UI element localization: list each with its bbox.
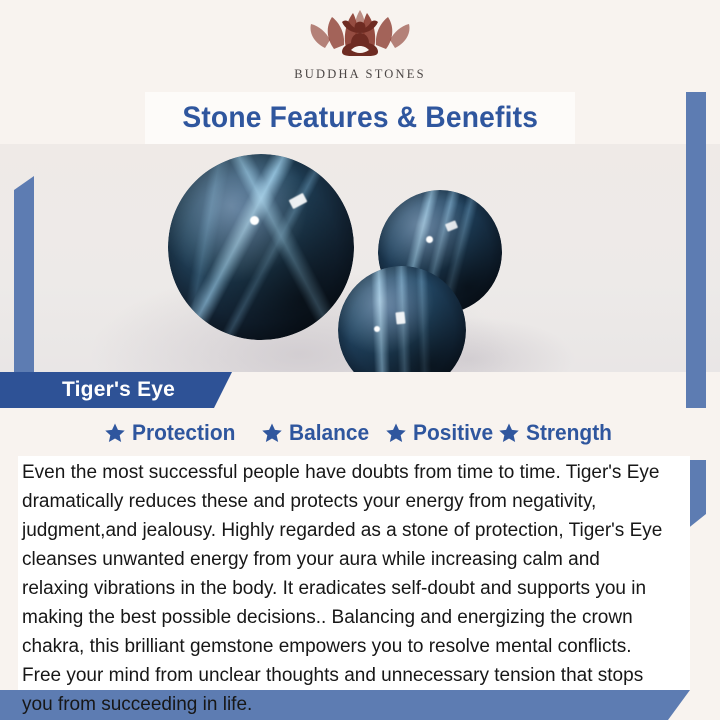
medium-sphere-highlight xyxy=(426,236,433,243)
brand-header: BUDDHA STONES xyxy=(0,0,720,92)
stone-photo xyxy=(0,144,720,372)
photo-background xyxy=(0,144,720,372)
star-icon xyxy=(385,422,407,444)
benefit-item-protection: Protection xyxy=(104,420,241,446)
star-icon xyxy=(104,422,126,444)
star-icon xyxy=(261,422,283,444)
page-title: Stone Features & Benefits xyxy=(182,101,538,135)
brand-name: BUDDHA STONES xyxy=(294,67,426,82)
left-accent-bar xyxy=(14,176,34,372)
benefits-list: Protection Balance Positive xyxy=(0,416,720,450)
benefit-label: Protection xyxy=(132,420,235,446)
small-sphere-highlight xyxy=(374,326,380,332)
stone-name-banner: Tiger's Eye xyxy=(0,372,232,408)
title-banner: Stone Features & Benefits xyxy=(145,92,575,144)
benefit-label: Positive xyxy=(413,420,493,446)
benefit-item-positive: Positive xyxy=(385,420,497,446)
stone-name: Tiger's Eye xyxy=(62,378,175,402)
benefit-item-strength: Strength xyxy=(498,420,616,446)
lotus-meditation-icon xyxy=(301,8,419,64)
description-text: Even the most successful people have dou… xyxy=(22,458,664,719)
description-panel: Even the most successful people have dou… xyxy=(18,456,690,690)
large-sphere xyxy=(168,154,354,340)
small-sphere-reflection xyxy=(395,312,405,325)
infographic-page: BUDDHA STONES Stone Features & Benefits xyxy=(0,0,720,720)
benefit-item-balance: Balance xyxy=(261,420,373,446)
star-icon xyxy=(498,422,520,444)
large-sphere-shading xyxy=(168,154,354,340)
benefit-label: Strength xyxy=(526,420,612,446)
benefit-label: Balance xyxy=(289,420,369,446)
large-sphere-highlight xyxy=(250,216,259,225)
